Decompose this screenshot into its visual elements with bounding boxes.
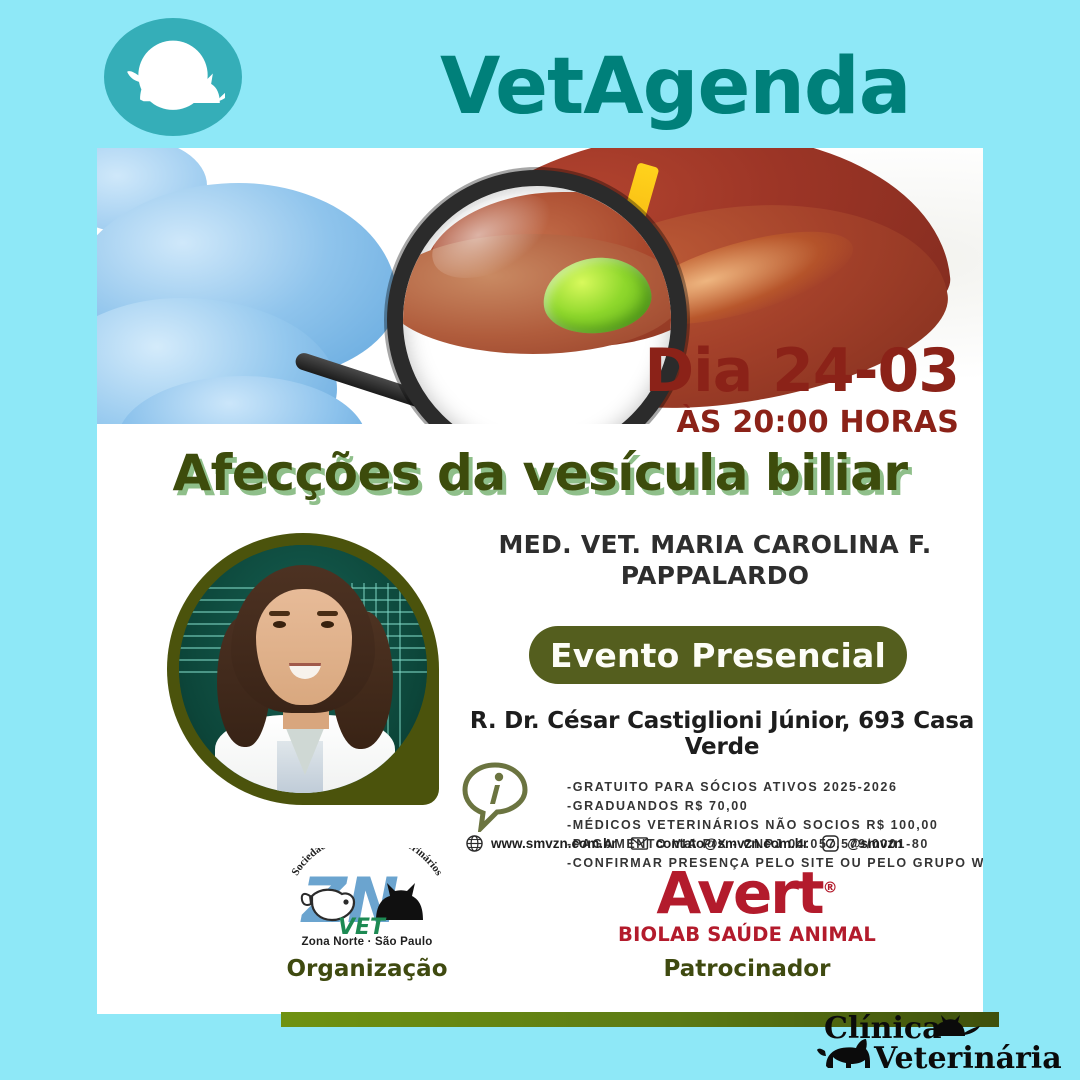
speaker-portrait xyxy=(167,533,439,805)
sponsor-name: Avert® xyxy=(656,866,837,921)
page-title: Afecções da vesícula biliar xyxy=(97,448,983,498)
organizer-label: Organização xyxy=(257,956,477,982)
avatar xyxy=(179,545,427,793)
poster-root: VetAgenda xyxy=(0,0,1080,1080)
contact-row: www.smvzn.com.br contato@smvzn.com.br @s… xyxy=(465,834,965,853)
brand-title: VetAgenda xyxy=(440,48,910,126)
list-item: -MÉDICOS VETERINÁRIOS NÃO SOCIOS R$ 100,… xyxy=(567,816,983,835)
instagram-icon xyxy=(821,834,840,853)
organizer-logo-vet: VET xyxy=(338,915,387,938)
clinic-logo: Clínica Veterinária xyxy=(812,1010,1062,1074)
clinic-logo-line2: Veterinária xyxy=(873,1041,1062,1074)
organizer-logo-sub: Zona Norte · São Paulo xyxy=(272,936,462,948)
registered-mark: ® xyxy=(823,879,838,897)
list-item: -GRADUANDOS R$ 70,00 xyxy=(567,797,983,816)
event-address: R. Dr. César Castiglioni Júnior, 693 Cas… xyxy=(447,708,983,760)
list-item: -GRATUITO PARA SÓCIOS ATIVOS 2025-2026 xyxy=(567,778,983,797)
contact-website[interactable]: www.smvzn.com.br xyxy=(465,834,617,853)
info-bubble-icon xyxy=(459,760,531,832)
event-date-block: Dia 24-03 ÀS 20:00 HORAS xyxy=(644,341,959,438)
contact-email[interactable]: contato@smvzn.com.br xyxy=(630,834,809,853)
event-date: Dia 24-03 xyxy=(644,341,959,401)
contact-website-label: www.smvzn.com.br xyxy=(491,836,617,851)
header: VetAgenda xyxy=(0,0,1080,148)
organizer-logo: Sociedade dos Médicos Veterinários ZN VE… xyxy=(272,848,462,968)
speaker-name-line1: MED. VET. MARIA CAROLINA F. xyxy=(447,530,983,561)
envelope-icon xyxy=(630,834,649,853)
status-badge: Evento Presencial xyxy=(529,626,907,684)
event-time: ÀS 20:00 HORAS xyxy=(644,408,959,438)
contact-instagram-label: @smvzn xyxy=(847,836,902,851)
contact-email-label: contato@smvzn.com.br xyxy=(656,836,809,851)
sponsor-label: Patrocinador xyxy=(617,956,877,982)
event-card: Dia 24-03 ÀS 20:00 HORAS Afecções da ves… xyxy=(97,148,983,1014)
contact-instagram[interactable]: @smvzn xyxy=(821,834,902,853)
sponsor-logo: Avert® BIOLAB SAÚDE ANIMAL xyxy=(617,866,877,946)
speaker-name-line2: PAPPALARDO xyxy=(447,561,983,592)
speaker-name: MED. VET. MARIA CAROLINA F. PAPPALARDO xyxy=(447,530,983,591)
dog-cat-circle-icon xyxy=(104,18,242,136)
sponsor-name-text: Avert xyxy=(656,859,822,927)
globe-icon xyxy=(465,834,484,853)
